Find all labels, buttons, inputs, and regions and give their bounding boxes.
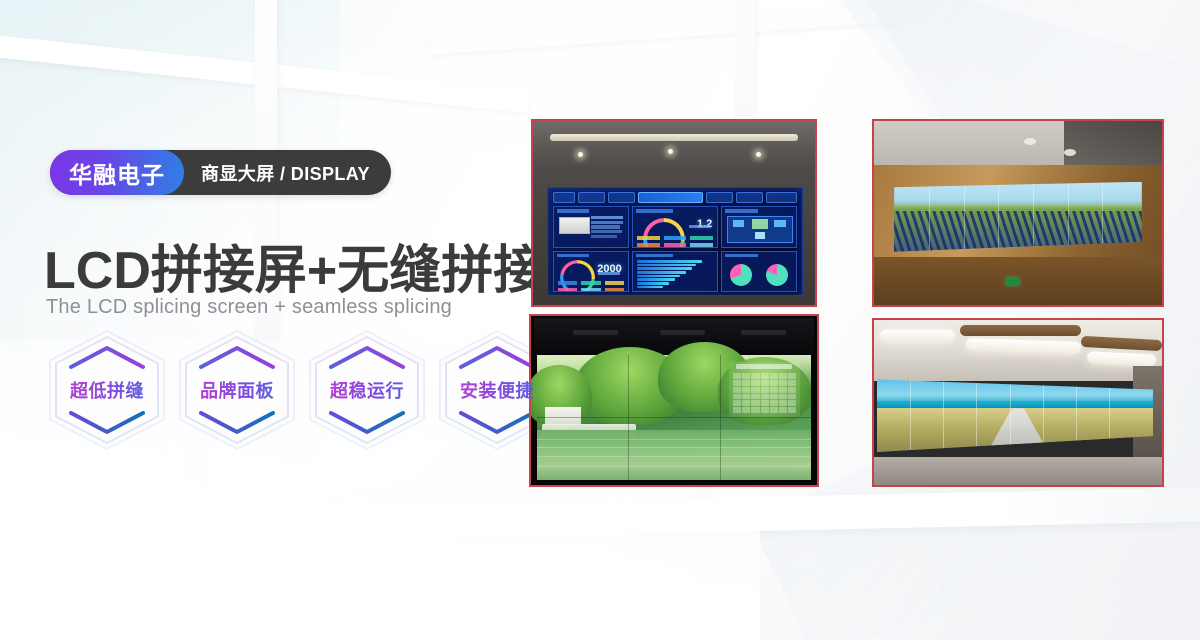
chevron-up-icon	[199, 345, 275, 369]
product-photo-dashboard-wall[interactable]: 1.2	[531, 119, 817, 307]
videowall-screen	[537, 355, 812, 480]
page-subtitle: The LCD splicing screen + seamless splic…	[46, 296, 452, 319]
calendar-overlay	[729, 362, 800, 417]
videowall-screen	[877, 379, 1153, 452]
chevron-down-icon	[199, 411, 275, 435]
product-photo-beach-wall[interactable]	[872, 318, 1164, 487]
brand-badge: 华融电子 商显大屏 / DISPLAY	[50, 150, 391, 195]
chevron-up-icon	[459, 345, 535, 369]
videowall-screen	[894, 182, 1142, 252]
promo-banner: 华融电子 商显大屏 / DISPLAY LCD拼接屏+无缝拼接 The LCD …	[0, 0, 1200, 640]
chevron-up-icon	[69, 345, 145, 369]
feature-label: 超低拼缝	[70, 377, 144, 403]
chevron-down-icon	[69, 411, 145, 435]
feature-badge-3: 超稳运行	[308, 334, 426, 446]
ceiling-light-icon	[1024, 138, 1036, 145]
product-photo-landscape-wall[interactable]	[529, 314, 819, 487]
feature-badge-2: 品牌面板	[178, 334, 296, 446]
page-title: LCD拼接屏+无缝拼接	[44, 228, 545, 303]
ceiling-light-icon	[1064, 149, 1076, 156]
ceiling-light-icon	[880, 330, 955, 342]
videowall-screen: 1.2	[547, 187, 803, 296]
feature-label: 品牌面板	[200, 377, 274, 403]
brand-category: 商显大屏 / DISPLAY	[184, 150, 391, 195]
brand-name: 华融电子	[50, 150, 184, 195]
feature-label: 安装便捷	[460, 377, 534, 403]
chevron-down-icon	[329, 411, 405, 435]
feature-label: 超稳运行	[330, 377, 404, 403]
exit-sign-icon	[1006, 278, 1019, 285]
product-photo-solar-wall[interactable]	[872, 119, 1164, 307]
feature-badge-1: 超低拼缝	[48, 334, 166, 446]
feature-list: 超低拼缝 品牌面板 超稳运行	[48, 334, 556, 446]
chevron-down-icon	[459, 411, 535, 435]
chevron-up-icon	[329, 345, 405, 369]
